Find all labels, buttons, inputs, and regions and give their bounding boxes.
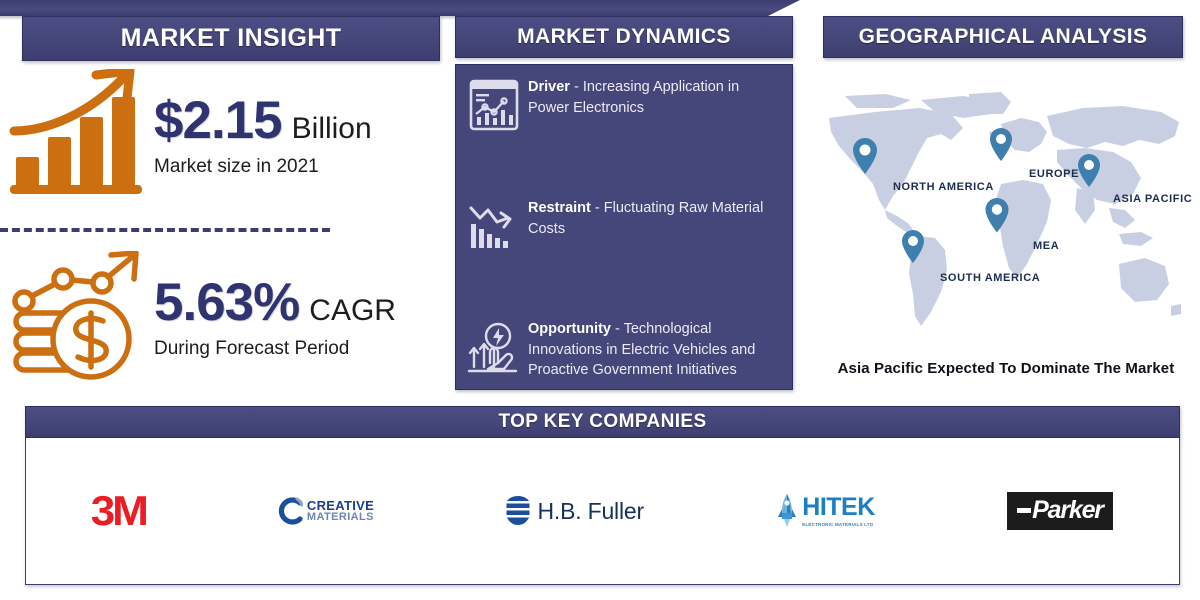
- market-size-stat: $2.15 Billion Market size in 2021: [8, 66, 438, 206]
- hand-energy-growth-icon: [466, 319, 522, 375]
- dynamics-driver-label: Driver: [528, 79, 570, 95]
- hitek-rocket-icon: [776, 493, 798, 529]
- market-dynamics-header-label: MARKET DYNAMICS: [517, 25, 731, 49]
- dynamics-restraint-label: Restraint: [528, 200, 591, 216]
- geography-caption: Asia Pacific Expected To Dominate The Ma…: [823, 360, 1189, 377]
- dynamics-opportunity-label: Opportunity: [528, 321, 611, 337]
- market-dynamics-header: MARKET DYNAMICS: [455, 16, 793, 58]
- top-key-companies-header-label: TOP KEY COMPANIES: [498, 411, 706, 433]
- map-label-north-america: NORTH AMERICA: [893, 181, 994, 193]
- bar-chart-growth-arrow-icon: [8, 69, 148, 204]
- geographical-analysis-header: GEOGRAPHICAL ANALYSIS: [823, 16, 1183, 58]
- company-logo-3m[interactable]: 3M: [92, 481, 144, 541]
- dynamics-driver-sep: -: [570, 79, 583, 95]
- company-logo-parker[interactable]: Parker: [1007, 481, 1113, 541]
- market-size-caption: Market size in 2021: [154, 156, 372, 178]
- company-logo-hb-fuller[interactable]: H.B. Fuller: [506, 481, 643, 541]
- hitek-text: HITEK: [802, 495, 875, 520]
- dynamics-item-restraint: Restraint - Fluctuating Raw Material Cos…: [466, 196, 780, 254]
- map-label-europe: EUROPE: [1029, 168, 1079, 180]
- map-label-asia-pacific: ASIA PACIFIC: [1113, 193, 1192, 205]
- dynamics-restraint-sep: -: [591, 200, 604, 216]
- creative-materials-line1: CREATIVE: [307, 499, 374, 512]
- creative-materials-line2: MATERIALS: [307, 512, 374, 524]
- world-map: NORTH AMERICA EUROPE ASIA PACIFIC MEA SO…: [823, 88, 1185, 348]
- hb-fuller-mark-icon: [506, 496, 530, 526]
- market-insight-header-label: MARKET INSIGHT: [121, 24, 342, 53]
- map-label-mea: MEA: [1033, 240, 1059, 252]
- cagr-value: 5.63%: [154, 276, 299, 329]
- dynamics-item-opportunity: Opportunity - Technological Innovations …: [466, 317, 780, 381]
- creative-materials-c-icon: [277, 496, 303, 526]
- top-key-companies-header: TOP KEY COMPANIES: [25, 406, 1180, 438]
- company-logo-3m-text: 3M: [91, 487, 146, 535]
- parker-text: Parker: [1032, 498, 1103, 523]
- market-size-unit: Billion: [292, 112, 372, 146]
- cagr-text: 5.63% CAGR During Forecast Period: [154, 276, 396, 360]
- company-logo-creative-materials[interactable]: CREATIVE MATERIALS: [277, 481, 374, 541]
- dynamics-opportunity-sep: -: [611, 321, 624, 337]
- hb-fuller-text: H.B. Fuller: [537, 498, 643, 525]
- map-label-south-america: SOUTH AMERICA: [940, 272, 1040, 284]
- market-dynamics-panel: Driver - Increasing Application in Power…: [455, 64, 793, 390]
- dynamics-opportunity-text: Opportunity - Technological Innovations …: [528, 317, 780, 381]
- cagr-unit: CAGR: [309, 294, 396, 328]
- cagr-caption: During Forecast Period: [154, 338, 396, 360]
- parker-bar-icon: [1017, 508, 1031, 513]
- dynamics-restraint-text: Restraint - Fluctuating Raw Material Cos…: [528, 196, 780, 239]
- world-map-svg: [823, 88, 1185, 348]
- dashboard-analytics-icon: [466, 77, 522, 133]
- coins-dollar-growth-icon: [8, 251, 148, 386]
- infographic-root: MARKET INSIGHT $2.15 Billion Market s: [0, 0, 1200, 600]
- top-key-companies-box: 3M CREATIVE MATERIALS: [25, 438, 1180, 585]
- cagr-stat: 5.63% CAGR During Forecast Period: [8, 248, 438, 388]
- dynamics-driver-text: Driver - Increasing Application in Power…: [528, 75, 780, 118]
- insight-divider: [0, 228, 330, 232]
- hitek-subtitle: ELECTRONIC MATERIALS LTD: [802, 522, 875, 527]
- market-size-value: $2.15: [154, 94, 282, 147]
- declining-bar-chart-icon: [466, 198, 522, 254]
- top-decorative-band: [0, 0, 800, 16]
- geographical-analysis-header-label: GEOGRAPHICAL ANALYSIS: [859, 25, 1148, 49]
- dynamics-item-driver: Driver - Increasing Application in Power…: [466, 75, 780, 133]
- map-pin-europe[interactable]: [990, 128, 1012, 161]
- company-logo-hitek[interactable]: HITEK ELECTRONIC MATERIALS LTD: [776, 481, 875, 541]
- market-size-text: $2.15 Billion Market size in 2021: [154, 94, 372, 178]
- market-insight-header: MARKET INSIGHT: [22, 16, 440, 61]
